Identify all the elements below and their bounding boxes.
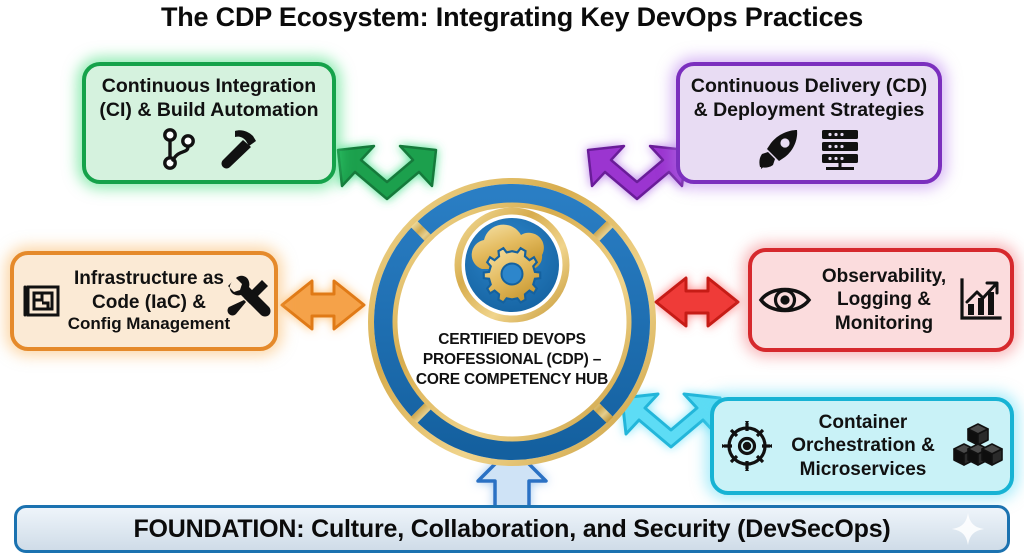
card-cont-line2: Orchestration & — [774, 434, 952, 457]
server-stack-icon — [818, 127, 862, 171]
core-competency-hub[interactable]: CERTIFIED DEVOPS PROFESSIONAL (CDP) – CO… — [368, 178, 656, 466]
foundation-label: FOUNDATION: Culture, Collaboration, and … — [133, 515, 890, 544]
card-cont-text: Container Orchestration & Microservices — [774, 411, 952, 481]
card-cont-line1: Container — [774, 411, 952, 434]
foundation-bar[interactable]: FOUNDATION: Culture, Collaboration, and … — [14, 505, 1010, 553]
card-obs-text: Observability, Logging & Monitoring — [812, 265, 956, 335]
card-infrastructure-as-code[interactable]: Infrastructure as Code (IaC) & Config Ma… — [10, 251, 278, 351]
wrench-screwdriver-icon — [224, 274, 272, 322]
card-continuous-integration[interactable]: Continuous Integration (CI) & Build Auto… — [82, 62, 336, 184]
card-ci-text: Continuous Integration (CI) & Build Auto… — [93, 75, 324, 123]
chart-growth-icon — [956, 276, 1004, 324]
arrow-obs — [656, 278, 738, 326]
card-continuous-delivery[interactable]: Continuous Delivery (CD) & Deployment St… — [676, 62, 942, 184]
card-container-orchestration[interactable]: Container Orchestration & Microservices — [710, 397, 1014, 495]
card-ci-line1: Continuous Integration — [99, 75, 318, 99]
card-obs-line3: Monitoring — [812, 312, 956, 335]
git-branch-icon — [159, 127, 199, 171]
card-obs-line1: Observability, — [812, 265, 956, 288]
card-obs-line2: Logging & — [812, 288, 956, 311]
card-cd-icons — [756, 127, 862, 171]
hammer-icon — [213, 127, 259, 171]
diagram-canvas: The CDP Ecosystem: Integrating Key DevOp… — [0, 0, 1024, 559]
card-cd-line2: & Deployment Strategies — [691, 99, 927, 123]
eye-icon — [758, 280, 812, 320]
card-ci-icons — [159, 127, 259, 171]
card-observability[interactable]: Observability, Logging & Monitoring — [748, 248, 1014, 352]
blueprint-icon — [18, 278, 64, 324]
sparkle-icon — [951, 512, 985, 546]
card-iac-line3: Config Management — [64, 314, 234, 335]
card-cd-text: Continuous Delivery (CD) & Deployment St… — [685, 75, 933, 123]
page-title: The CDP Ecosystem: Integrating Key DevOp… — [0, 2, 1024, 33]
arrow-iac — [282, 281, 364, 329]
helm-wheel-icon — [720, 419, 774, 473]
hub-rings — [368, 178, 656, 466]
card-iac-line1: Infrastructure as — [64, 267, 234, 290]
card-cd-line1: Continuous Delivery (CD) — [691, 75, 927, 99]
card-iac-line2: Code (IaC) & — [64, 291, 234, 314]
cubes-icon — [952, 422, 1004, 470]
rocket-icon — [756, 127, 802, 171]
card-iac-text: Infrastructure as Code (IaC) & Config Ma… — [64, 267, 234, 334]
card-ci-line2: (CI) & Build Automation — [99, 99, 318, 123]
card-cont-line3: Microservices — [774, 458, 952, 481]
